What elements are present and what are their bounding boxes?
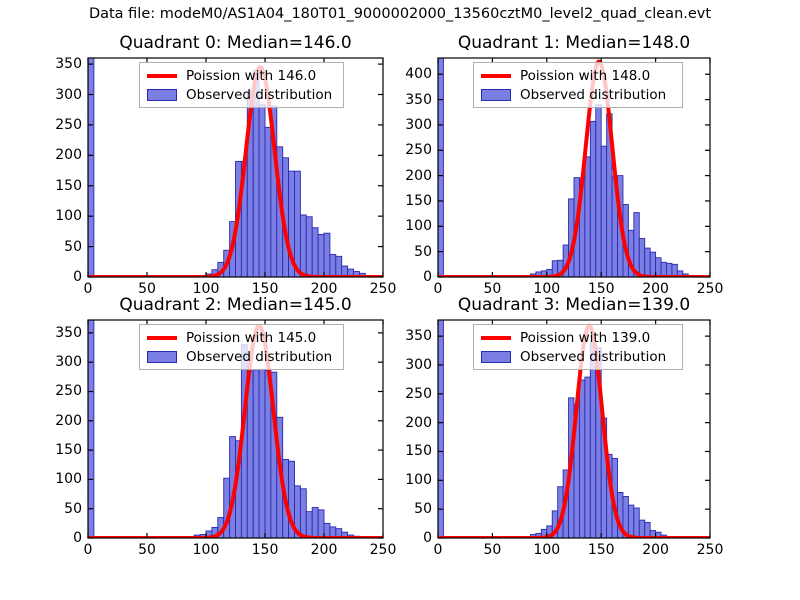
legend-line-swatch-icon <box>479 336 513 340</box>
y-tick-label: 350 <box>384 328 432 344</box>
x-tick-label: 250 <box>697 542 724 558</box>
histogram-bar <box>438 320 443 538</box>
y-tick-label: 0 <box>384 530 432 546</box>
histogram-bar <box>645 522 650 538</box>
legend-entry-observed: Observed distribution <box>479 347 676 366</box>
y-tick-label: 50 <box>384 501 432 517</box>
legend-label-poisson: Poission with 139.0 <box>520 330 650 346</box>
x-tick-label: 100 <box>533 542 560 558</box>
histogram-bar <box>628 505 633 538</box>
figure-canvas: Data file: modeM0/AS1A04_180T01_90000020… <box>0 0 800 600</box>
histogram-bar <box>639 520 644 538</box>
histogram-bar <box>579 380 584 538</box>
x-tick-label: 50 <box>483 542 501 558</box>
blue-bar-icon <box>481 351 511 363</box>
histogram-bar <box>634 508 639 538</box>
red-line-icon <box>481 336 511 340</box>
histogram-bar <box>590 343 595 538</box>
y-tick-label: 250 <box>384 386 432 402</box>
x-tick-label: 0 <box>434 542 443 558</box>
y-tick-label: 150 <box>384 443 432 459</box>
subplot-quadrant-3: Quadrant 3: Median=139.00501001502002500… <box>0 0 800 600</box>
legend-quadrant-3: Poission with 139.0Observed distribution <box>473 324 683 370</box>
x-tick-label: 200 <box>642 542 669 558</box>
y-tick-label: 300 <box>384 357 432 373</box>
legend-patch-swatch-icon <box>479 351 513 363</box>
histogram-bar <box>585 377 590 538</box>
y-tick-label: 200 <box>384 415 432 431</box>
x-tick-label: 150 <box>588 542 615 558</box>
legend-label-observed: Observed distribution <box>520 349 666 365</box>
legend-entry-poisson: Poission with 139.0 <box>479 328 676 347</box>
y-tick-label: 100 <box>384 472 432 488</box>
